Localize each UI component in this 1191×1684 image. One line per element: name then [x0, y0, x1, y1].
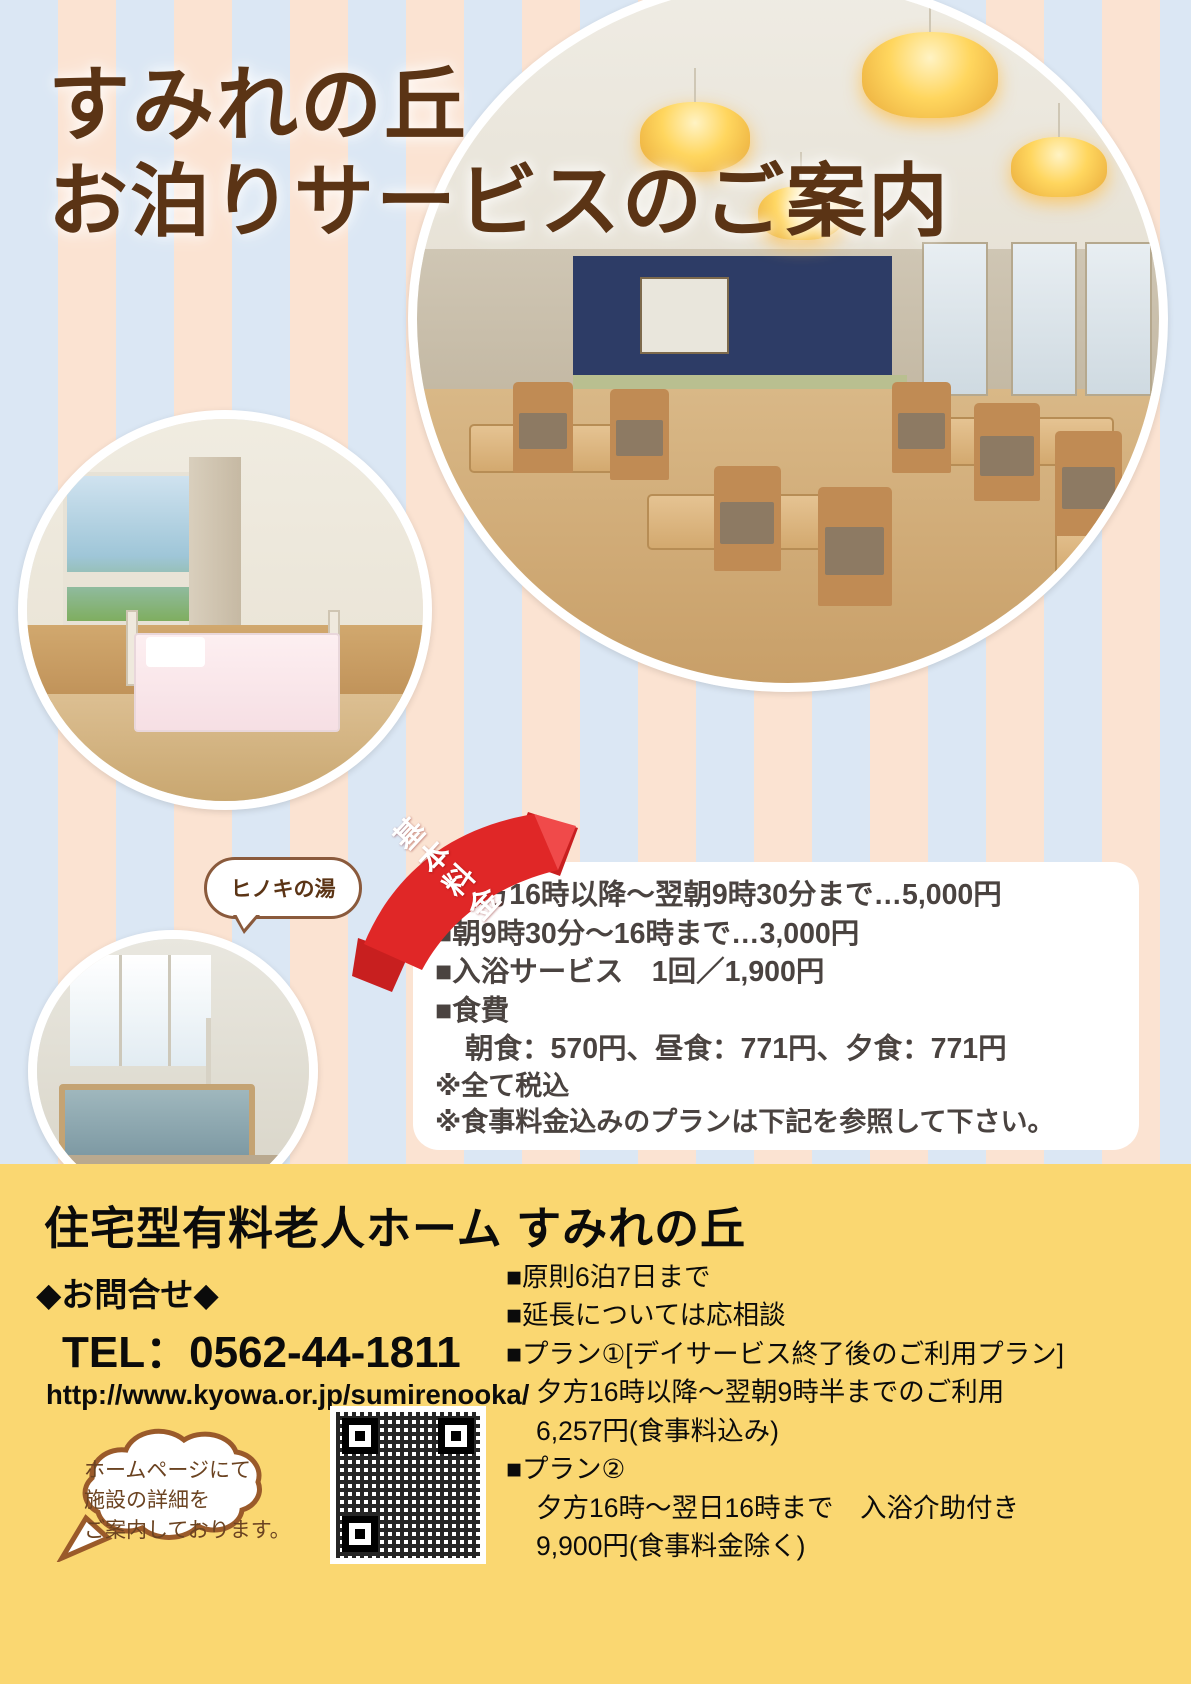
fee-item-3: ■食費	[435, 992, 1121, 1031]
bedroom-photo	[18, 410, 432, 810]
qr-eye-top-left	[342, 1418, 378, 1454]
cloud-line-2: 施設の詳細を	[84, 1486, 291, 1516]
plan-list: ■原則6泊7日まで ■延長については応相談 ■プラン①[デイサービス終了後のご利…	[506, 1258, 1064, 1565]
fee-note-tax: ※全て税込	[435, 1069, 1121, 1105]
hinoki-bath-label: ヒノキの湯	[231, 873, 336, 903]
qr-eye-top-right	[438, 1418, 474, 1454]
qr-eye-bottom-left	[342, 1516, 378, 1552]
facility-name: 住宅型有料老人ホーム すみれの丘	[44, 1192, 746, 1257]
plan-line-8: 9,900円(食事料金除く)	[506, 1527, 1064, 1565]
footer-contact-section: 住宅型有料老人ホーム すみれの丘 ◆お問合せ◆ TEL：0562-44-1811…	[0, 1164, 1191, 1684]
plan-line-1: ■原則6泊7日まで	[506, 1258, 1064, 1296]
contact-heading: ◆お問合せ◆	[36, 1268, 219, 1316]
homepage-info-text: ホームページにて 施設の詳細を ご案内しております。	[84, 1456, 291, 1545]
telephone-number[interactable]: TEL：0562-44-1811	[62, 1316, 461, 1380]
plan-line-4: 夕方16時以降〜翌朝9時半までのご利用	[506, 1373, 1064, 1411]
fee-note-plans: ※食事料金込みのプランは下記を参照して下さい。	[435, 1105, 1121, 1141]
flyer-page: すみれの丘 お泊りサービスのご案内 ヒノキの湯 基本料金 ■夕方16時以降〜翌朝…	[0, 0, 1191, 1684]
cloud-line-1: ホームページにて	[84, 1456, 291, 1486]
qr-code[interactable]	[330, 1406, 486, 1564]
plan-line-7: 夕方16時〜翌日16時まで 入浴介助付き	[506, 1489, 1064, 1527]
title-line-2: お泊りサービスのご案内	[48, 155, 950, 249]
page-title: すみれの丘 お泊りサービスのご案内	[48, 58, 950, 249]
meal-fee-detail: 朝食：570円、昼食：771円、夕食：771円	[435, 1030, 1121, 1069]
basic-fee-ribbon: 基本料金	[352, 806, 582, 996]
hinoki-bath-label-bubble: ヒノキの湯	[204, 857, 362, 919]
plan-line-6: ■プラン②	[506, 1450, 1064, 1488]
plan-line-5: 6,257円(食事料込み)	[506, 1412, 1064, 1450]
homepage-info-bubble: ホームページにて 施設の詳細を ご案内しております。	[52, 1426, 310, 1562]
plan-line-3: ■プラン①[デイサービス終了後のご利用プラン]	[506, 1335, 1064, 1373]
title-line-1: すみれの丘	[48, 58, 950, 155]
plan-line-2: ■延長については応相談	[506, 1296, 1064, 1334]
cloud-line-3: ご案内しております。	[84, 1516, 291, 1546]
